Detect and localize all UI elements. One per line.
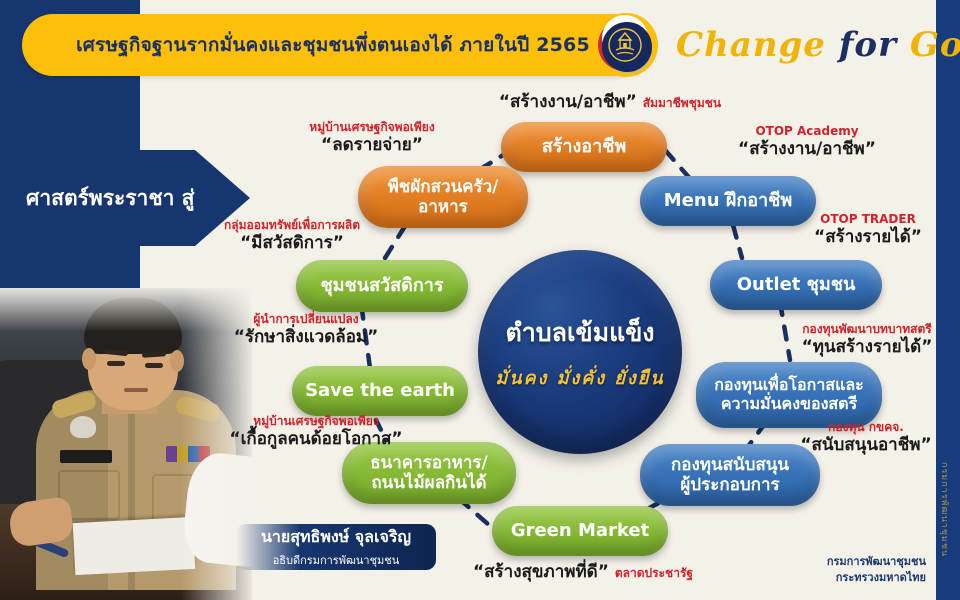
caption-main: “สร้างรายได้” xyxy=(790,227,946,247)
node-label: ธนาคารอาหาร/ ถนนไม้ผลกินได้ xyxy=(370,453,487,493)
center-subtitle: มั่นคง มั่งคั่ง ยั่งยืน xyxy=(495,363,664,392)
node-thanakhan-ahan[interactable]: ธนาคารอาหาร/ ถนนไม้ผลกินได้ xyxy=(342,442,516,504)
footer-organisation: กรมการพัฒนาชุมชน กระทรวงมหาดไทย xyxy=(827,554,926,586)
page-title: เศรษฐกิจฐานรากมั่นคงและชุมชนพึ่งตนเองได้… xyxy=(76,30,590,60)
caption-main: “รักษาสิ่งแวดล้อม” xyxy=(196,327,416,347)
node-label: Outlet ชุมชน xyxy=(737,274,856,295)
caption-sub: กองทุนพัฒนาบทบาทสตรี xyxy=(778,322,956,336)
center-node-tambon-khemkhaeng: ตำบลเข้มแข็ง มั่นคง มั่งคั่ง ยั่งยืน xyxy=(478,250,682,454)
caption-main: “ทุนสร้างรายได้” xyxy=(778,337,956,357)
caption-sang-sukkhaphap: “สร้างสุขภาพที่ดี” ตลาดประชารัฐ xyxy=(450,562,716,582)
arrow-banner-label: ศาสตร์พระราชา สู่ xyxy=(0,182,195,215)
node-sang-achip[interactable]: สร้างอาชีพ xyxy=(501,122,667,172)
node-label: Save the earth xyxy=(305,380,455,401)
caption-main: “เกื้อกูลคนด้อยโอกาส” xyxy=(200,429,432,449)
node-label: ชุมชนสวัสดิการ xyxy=(320,275,443,296)
caption-main: “สร้างสุขภาพที่ดี” xyxy=(473,562,609,582)
caption-sub: กลุ่มออมทรัพย์เพื่อการผลิต xyxy=(182,218,402,232)
cdd-ministry-seal-icon xyxy=(594,13,658,77)
node-chumchon-sawatdikan[interactable]: ชุมชนสวัสดิการ xyxy=(296,260,468,312)
caption-sub: OTOP TRADER xyxy=(790,212,946,226)
caption-sub: ตลาดประชารัฐ xyxy=(615,566,693,580)
node-save-the-earth[interactable]: Save the earth xyxy=(292,366,468,416)
caption-sammachip: “สร้างงาน/อาชีพ” สัมมาชีพชุมชน xyxy=(460,92,760,112)
header-banner: เศรษฐกิจฐานรากมั่นคงและชุมชนพึ่งตนเองได้… xyxy=(22,14,644,76)
caption-sub: หมู่บ้านเศรษฐกิจพอเพียง xyxy=(200,414,432,428)
caption-kokojo: กองทุน กขคจ. “สนับสนุนอาชีพ” xyxy=(780,420,952,456)
caption-otop-academy: OTOP Academy “สร้างงาน/อาชีพ” xyxy=(712,124,902,160)
brand-word-for: for xyxy=(839,25,897,65)
infographic-canvas: กรมการพัฒนาชุมชน เศรษฐกิจฐานรากมั่นคงและ… xyxy=(0,0,960,600)
node-label: พืชผักสวนครัว/ อาหาร xyxy=(388,177,499,217)
caption-sub: สัมมาชีพชุมชน xyxy=(643,96,721,110)
caption-main: “มีสวัสดิการ” xyxy=(182,233,402,253)
caption-main: “สร้างงาน/อาชีพ” xyxy=(499,92,637,112)
footer-line-2: กระทรวงมหาดไทย xyxy=(827,570,926,586)
caption-sub: กองทุน กขคจ. xyxy=(780,420,952,434)
brand-word-change: Change xyxy=(676,25,826,65)
node-kongthun-okat-satri[interactable]: กองทุนเพื่อโอกาสและ ความมั่นคงของสตรี xyxy=(696,362,882,428)
person-position: อธิบดีกรมการพัฒนาชุมชน xyxy=(273,551,400,569)
center-title: ตำบลเข้มแข็ง xyxy=(506,313,655,353)
caption-lod-rai-jai: หมู่บ้านเศรษฐกิจพอเพียง “ลดรายจ่าย” xyxy=(272,120,472,156)
node-label: กองทุนเพื่อโอกาสและ ความมั่นคงของสตรี xyxy=(714,376,864,414)
person-name-badge: นายสุทธิพงษ์ จุลเจริญ อธิบดีกรมการพัฒนาช… xyxy=(236,524,436,570)
node-outlet-chumchon[interactable]: Outlet ชุมชน xyxy=(710,260,882,310)
node-label: สร้างอาชีพ xyxy=(542,136,627,157)
caption-sub: ผู้นำการเปลี่ยนแปลง xyxy=(196,312,416,326)
brand-change-for-good: Change for Good xyxy=(676,16,960,74)
node-green-market[interactable]: Green Market xyxy=(492,506,668,556)
node-label: กองทุนสนับสนุน ผู้ประกอบการ xyxy=(671,455,789,495)
caption-sub: OTOP Academy xyxy=(712,124,902,138)
caption-sub: หมู่บ้านเศรษฐกิจพอเพียง xyxy=(272,120,472,134)
caption-mee-sawatdikan: กลุ่มออมทรัพย์เพื่อการผลิต “มีสวัสดิการ” xyxy=(182,218,402,254)
node-label: Menu ฝึกอาชีพ xyxy=(664,190,792,211)
footer-line-1: กรมการพัฒนาชุมชน xyxy=(827,554,926,570)
node-label: Green Market xyxy=(511,520,649,541)
caption-main: “ลดรายจ่าย” xyxy=(272,135,472,155)
caption-main: “สร้างงาน/อาชีพ” xyxy=(712,139,902,159)
caption-otop-trader: OTOP TRADER “สร้างรายได้” xyxy=(790,212,946,248)
brand-word-good: Good xyxy=(910,25,960,65)
caption-raksa-singwaetlom: ผู้นำการเปลี่ยนแปลง “รักษาสิ่งแวดล้อม” xyxy=(196,312,416,348)
caption-kuekun-khon-doi-okat: หมู่บ้านเศรษฐกิจพอเพียง “เกื้อกูลคนด้อยโ… xyxy=(200,414,432,450)
person-name: นายสุทธิพงษ์ จุลเจริญ xyxy=(261,525,411,550)
caption-main: “สนับสนุนอาชีพ” xyxy=(780,435,952,455)
caption-thun-sang-raidai: กองทุนพัฒนาบทบาทสตรี “ทุนสร้างรายได้” xyxy=(778,322,956,358)
